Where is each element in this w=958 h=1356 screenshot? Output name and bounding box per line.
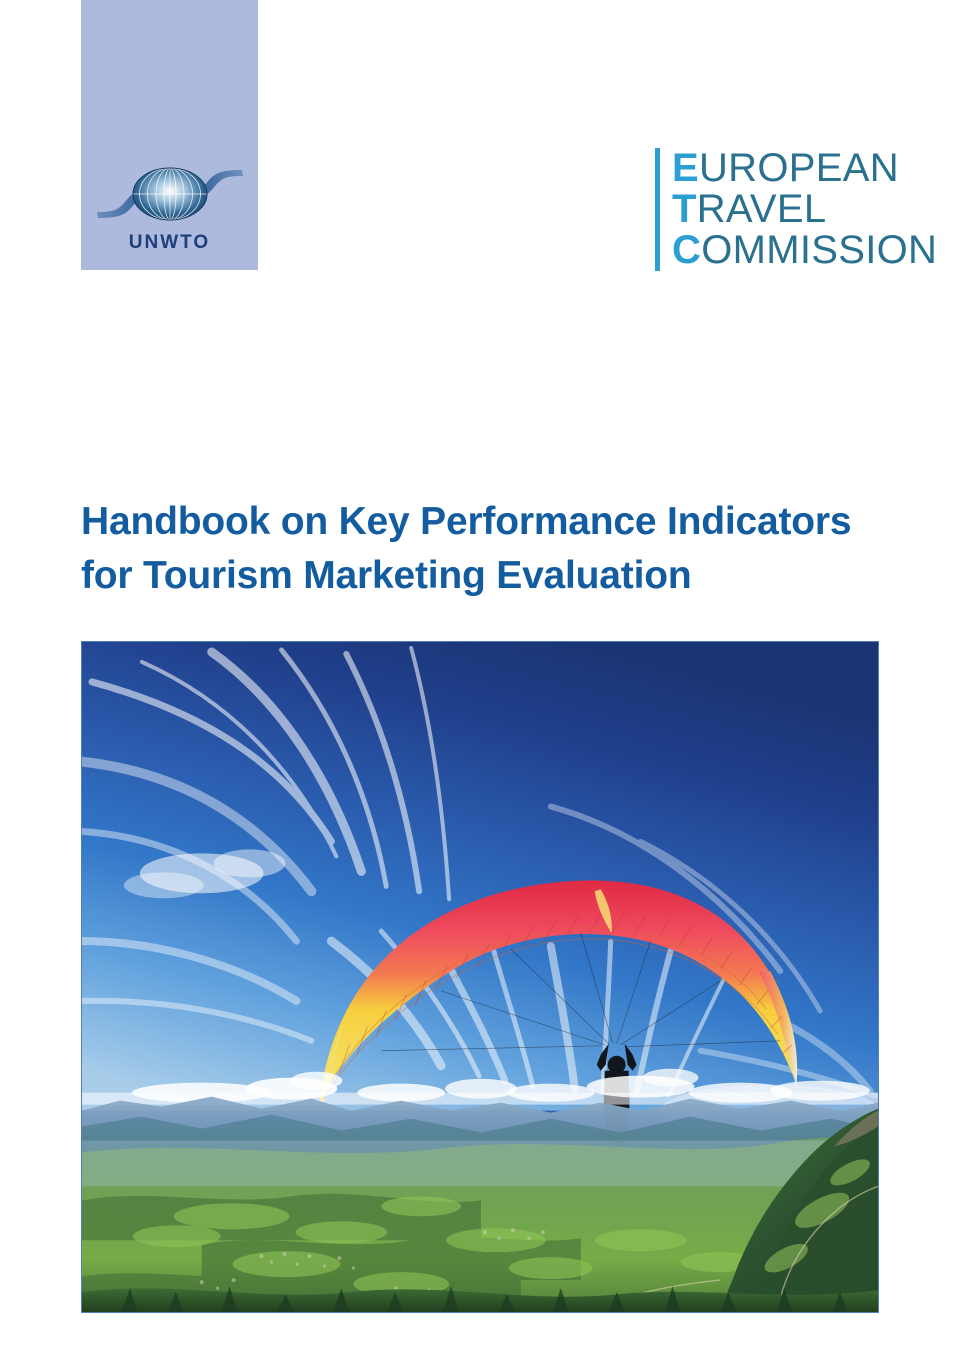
page-title-line-1: Handbook on Key Performance Indicators bbox=[81, 495, 901, 549]
unwto-logo-panel: UNWTO bbox=[81, 0, 258, 270]
unwto-logo: UNWTO bbox=[81, 163, 258, 254]
etc-line-european: EUROPEAN bbox=[672, 148, 937, 189]
cover-photo bbox=[81, 641, 879, 1313]
globe-ribbon-icon bbox=[95, 163, 245, 229]
etc-rest-european: UROPEAN bbox=[699, 146, 899, 190]
page-title: Handbook on Key Performance Indicators f… bbox=[81, 495, 901, 603]
etc-cap-e: E bbox=[672, 146, 699, 190]
etc-line-commission: COMMISSION bbox=[672, 230, 937, 271]
etc-cap-c: C bbox=[672, 228, 701, 272]
unwto-wordmark: UNWTO bbox=[81, 232, 258, 254]
etc-wordmark: EUROPEAN TRAVEL COMMISSION bbox=[672, 148, 937, 271]
etc-rest-commission: OMMISSION bbox=[701, 228, 937, 272]
etc-line-travel: TRAVEL bbox=[672, 189, 937, 230]
etc-cap-t: T bbox=[672, 187, 697, 231]
etc-logo: EUROPEAN TRAVEL COMMISSION bbox=[655, 148, 937, 271]
etc-vertical-rule bbox=[655, 148, 660, 271]
etc-rest-travel: RAVEL bbox=[697, 187, 827, 231]
paraglider-scene bbox=[82, 642, 878, 1312]
page-title-line-2: for Tourism Marketing Evaluation bbox=[81, 549, 901, 603]
